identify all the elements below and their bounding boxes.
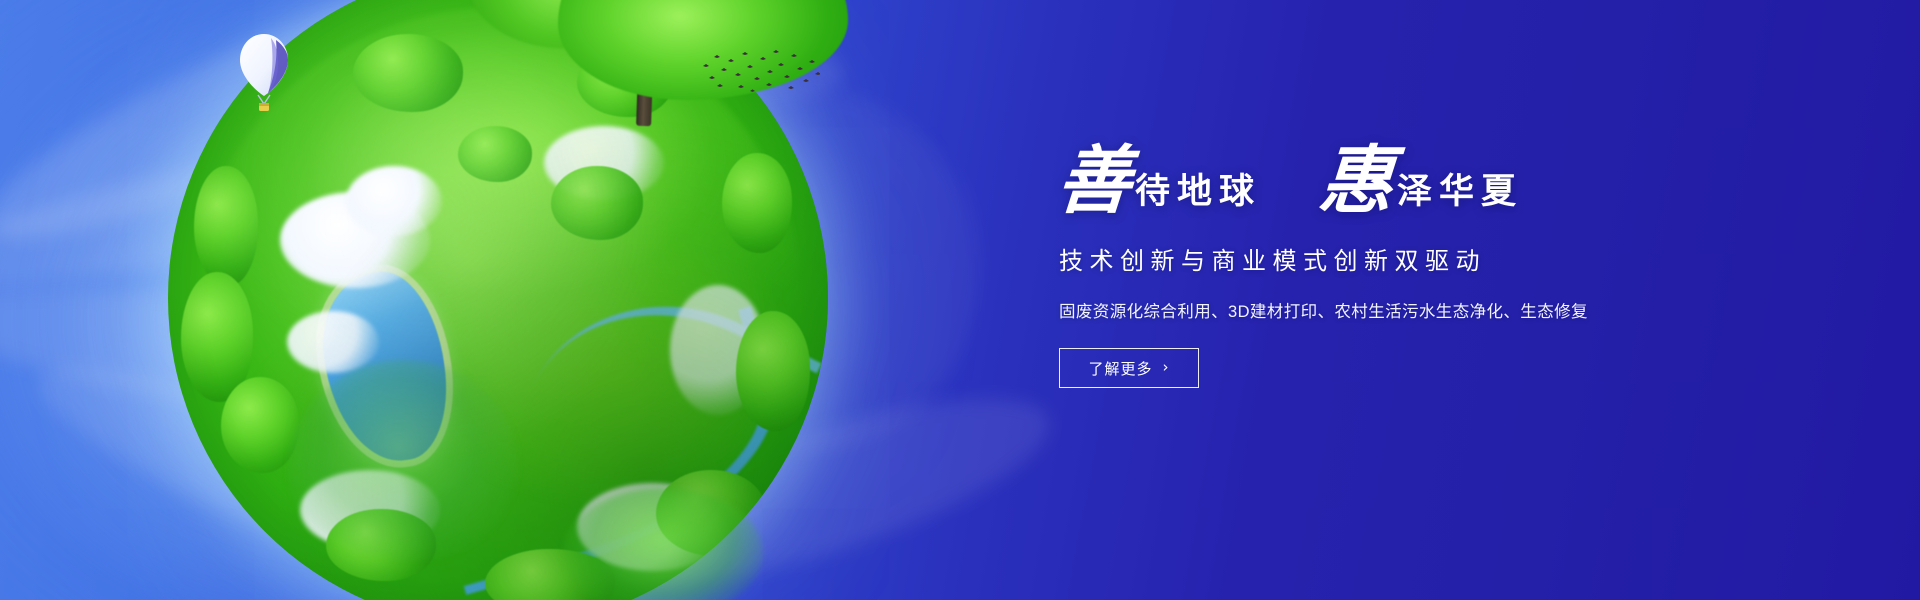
big-tree-canopy-left [468, 0, 658, 48]
cloud-puff [670, 285, 766, 415]
river-shape [411, 306, 805, 595]
tree-clump [722, 153, 792, 253]
river-shape-secondary [504, 254, 821, 553]
big-tree-trunk [636, 14, 655, 126]
headline-ze-hua-xia: 泽华夏 [1397, 174, 1523, 215]
cloud-puff [544, 126, 664, 200]
headline-char-hui: 惠 [1317, 150, 1396, 215]
bird-flock-icon [700, 48, 820, 96]
tree-clump [577, 47, 673, 117]
tree-clump [181, 272, 253, 402]
tree-clump [656, 470, 766, 556]
cloud-streak [0, 264, 464, 435]
hero-copy-block: 善 待地球 惠 泽华夏 技术创新与商业模式创新双驱动 固废资源化综合利用、3D建… [1057, 150, 1677, 388]
cloud-puff [346, 166, 442, 236]
hot-air-balloon-icon [238, 32, 290, 118]
tree-clump [551, 166, 643, 240]
sky-glow [0, 0, 970, 600]
tree-clump [736, 311, 810, 431]
hero-headline: 善 待地球 惠 泽华夏 [1057, 150, 1677, 215]
hero-subtitle: 技术创新与商业模式创新双驱动 [1059, 241, 1677, 276]
lake-shape [314, 264, 457, 469]
tree-clump [221, 377, 299, 473]
tree-clump [458, 126, 532, 182]
silhouette-tree [288, 360, 518, 560]
tree-clump [194, 166, 258, 286]
headline-dai-di-qiu: 待地球 [1135, 174, 1261, 215]
cloud-puff [280, 192, 430, 288]
tree-clump [485, 549, 615, 600]
cloud-puff [287, 311, 379, 373]
headline-char-shan: 善 [1055, 150, 1134, 215]
cloud-streak [640, 90, 980, 450]
sky-glow-inner [40, 60, 800, 580]
tree-clump [326, 509, 436, 581]
learn-more-button[interactable]: 了解更多 › [1059, 348, 1199, 388]
chevron-right-icon: › [1163, 360, 1170, 375]
bottom-tree [563, 488, 763, 600]
cloud-puff [577, 483, 727, 571]
cloud-puff [300, 470, 440, 550]
hero-banner: 善 待地球 惠 泽华夏 技术创新与商业模式创新双驱动 固废资源化综合利用、3D建… [0, 0, 1920, 600]
cloud-streak [0, 115, 463, 315]
tree-clump [353, 34, 463, 112]
learn-more-label: 了解更多 [1088, 358, 1152, 379]
hero-description: 固废资源化综合利用、3D建材打印、农村生活污水生态净化、生态修复 [1059, 298, 1677, 322]
cloud-streak [20, 329, 580, 600]
cloud-streak [593, 362, 1068, 600]
